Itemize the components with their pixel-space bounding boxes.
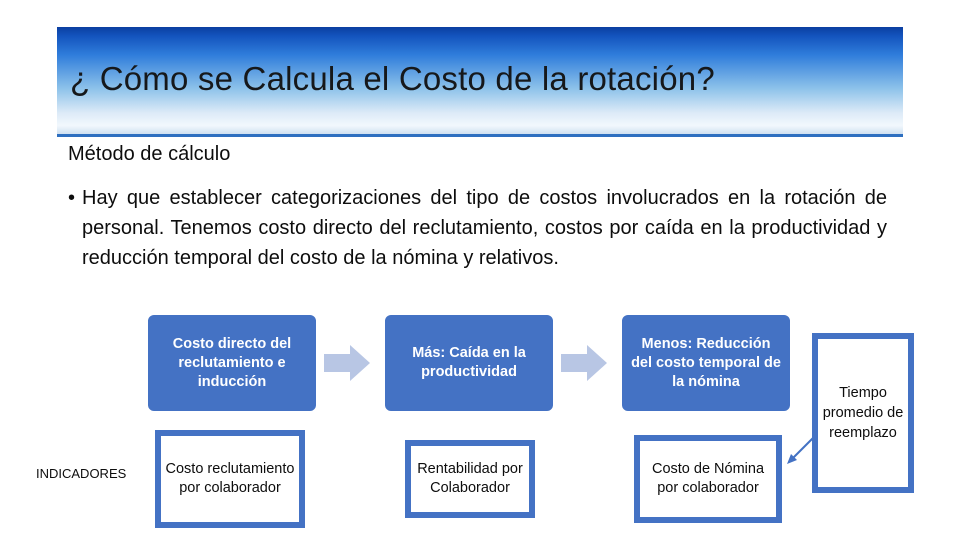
side-box-tiempo-promedio[interactable]: Tiempo promedio de reemplazo xyxy=(812,333,914,493)
page-title: ¿ Cómo se Calcula el Costo de la rotació… xyxy=(70,60,890,98)
flow-box-costo-directo[interactable]: Costo directo del reclutamiento e inducc… xyxy=(148,315,316,411)
bullet-marker-icon: • xyxy=(68,183,75,213)
indicator-box-costo-reclutamiento[interactable]: Costo reclutamiento por colaborador xyxy=(155,430,305,528)
arrow-right-icon xyxy=(561,343,609,383)
indicator-box-costo-nomina[interactable]: Costo de Nómina por colaborador xyxy=(634,435,782,523)
arrow-right-icon xyxy=(324,343,372,383)
bullet-text: Hay que establecer categorizaciones del … xyxy=(82,183,887,273)
indicators-label: INDICADORES xyxy=(36,466,126,481)
subtitle: Método de cálculo xyxy=(68,143,230,166)
flow-box-caida-productividad[interactable]: Más: Caída en la productividad xyxy=(385,315,553,411)
arrow-down-left-icon xyxy=(783,432,819,468)
flow-box-reduccion-nomina[interactable]: Menos: Reducción del costo temporal de l… xyxy=(622,315,790,411)
indicator-box-rentabilidad[interactable]: Rentabilidad por Colaborador xyxy=(405,440,535,518)
bullet-item: • Hay que establecer categorizaciones de… xyxy=(68,183,898,273)
